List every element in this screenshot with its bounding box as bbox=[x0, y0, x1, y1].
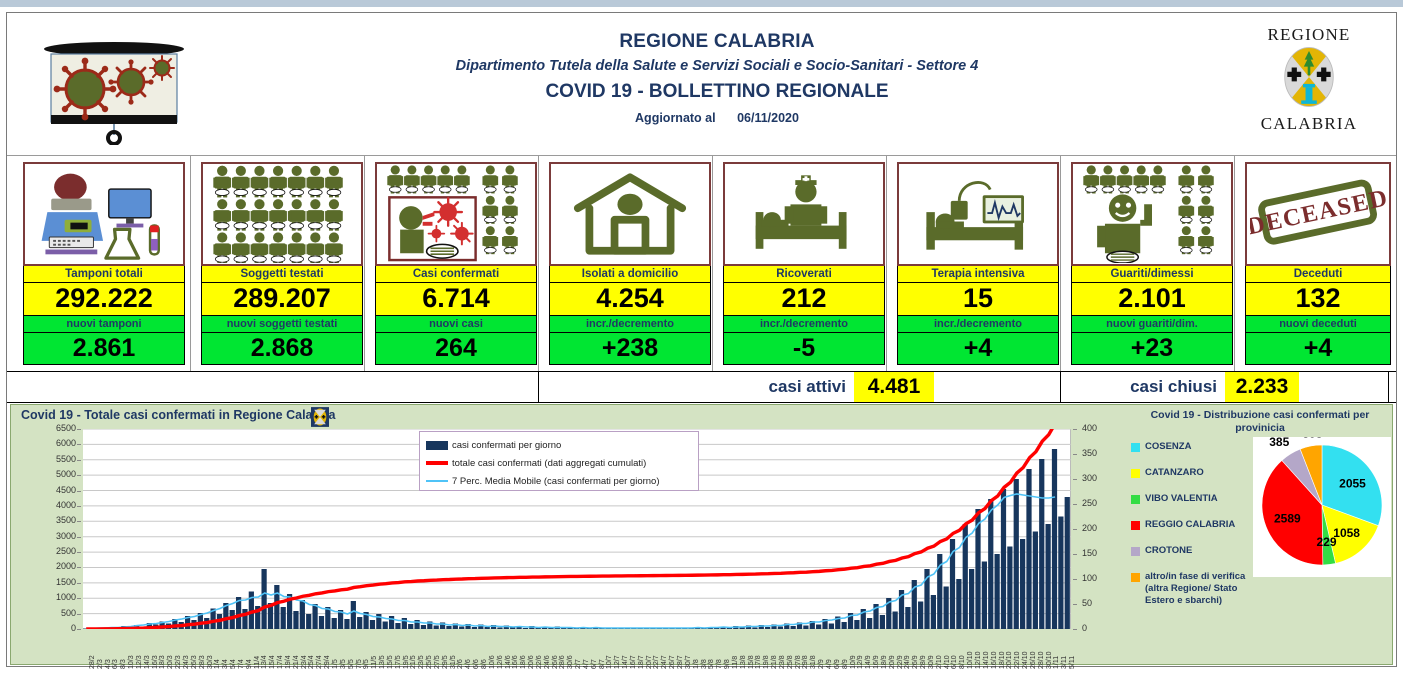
y-axis-left-tick: 3500 bbox=[56, 515, 76, 525]
icu-bed-monitor-icon bbox=[897, 162, 1059, 266]
y-axis-left-tickmark bbox=[77, 583, 81, 584]
pie-legend-swatch-icon bbox=[1131, 443, 1140, 452]
pie-legend-label: altro/in fase di verifica (altra Regione… bbox=[1145, 571, 1250, 607]
pie-chart-panel: Covid 19 - Distribuzione casi confermati… bbox=[1123, 405, 1394, 664]
x-axis-tick-label: 5/5 bbox=[348, 629, 355, 669]
y-axis-left-tick: 4000 bbox=[56, 500, 76, 510]
x-axis-tick-label: 21/5 bbox=[410, 629, 417, 669]
y-axis-right-tickmark bbox=[1073, 579, 1077, 580]
x-axis-tick-label: 18/7 bbox=[638, 629, 645, 669]
bulletin-title: COVID 19 - BOLLETTINO REGIONALE bbox=[207, 81, 1227, 103]
pie-legend-label: CATANZARO bbox=[1145, 467, 1204, 479]
y-axis-right-tickmark bbox=[1073, 504, 1077, 505]
y-axis-right-tick: 0 bbox=[1082, 623, 1087, 633]
kpi-delta-label: nuovi guariti/dim. bbox=[1071, 316, 1233, 333]
kpi-card-guariti-dimessi[interactable]: Guariti/dimessi 2.101 nuovi guariti/dim.… bbox=[1071, 162, 1233, 365]
x-axis-tick-label: 7/4 bbox=[238, 629, 245, 669]
summary-divider bbox=[1388, 372, 1389, 403]
x-axis-tick-label: 27/5 bbox=[434, 629, 441, 669]
kpi-delta-value: -5 bbox=[723, 333, 885, 365]
kpi-delta-value: +4 bbox=[1245, 333, 1391, 365]
x-axis-tick-label: 1/8 bbox=[693, 629, 700, 669]
kpi-strip: Tamponi totali 292.222 nuovi tamponi 2.8… bbox=[7, 155, 1396, 371]
x-axis-tick-label: 17/5 bbox=[395, 629, 402, 669]
kpi-delta-value: 2.861 bbox=[23, 333, 185, 365]
hospital-bed-nurse-icon bbox=[723, 162, 885, 266]
x-axis-tick-label: 30/7 bbox=[685, 629, 692, 669]
y-axis-left-tick: 2000 bbox=[56, 561, 76, 571]
y-axis-left-tickmark bbox=[77, 429, 81, 430]
kpi-card-deceduti[interactable]: DECEASED Deceduti 132 nuovi deceduti +4 bbox=[1245, 162, 1391, 365]
kpi-title: Tamponi totali bbox=[23, 266, 185, 283]
pie-legend-swatch-icon bbox=[1131, 495, 1140, 504]
y-axis-right-tickmark bbox=[1073, 454, 1077, 455]
x-axis-tick-label: 2/6 bbox=[457, 629, 464, 669]
kpi-delta-value: 2.868 bbox=[201, 333, 363, 365]
x-axis-tick-label: 2/10 bbox=[936, 629, 943, 669]
kpi-delta-label: nuovi tamponi bbox=[23, 316, 185, 333]
x-axis-tick-label: 28/10 bbox=[1038, 629, 1045, 669]
pie-slice-label: 229 bbox=[1316, 535, 1336, 549]
x-axis-tick-label: 16/3 bbox=[152, 629, 159, 669]
x-axis-tick-label: 3/5 bbox=[340, 629, 347, 669]
x-axis-tick-label: 5/4 bbox=[230, 629, 237, 669]
y-axis-right-tickmark bbox=[1073, 604, 1077, 605]
kpi-delta-value: +23 bbox=[1071, 333, 1233, 365]
x-axis-tick-label: 20/7 bbox=[646, 629, 653, 669]
x-axis-tick-label: 28/7 bbox=[677, 629, 684, 669]
x-axis-tick-label: 28/6 bbox=[559, 629, 566, 669]
charts-panel: Covid 19 - Totale casi confermati in Reg… bbox=[10, 404, 1393, 665]
x-axis-tick-label: 24/3 bbox=[183, 629, 190, 669]
y-axis-right-tick: 400 bbox=[1082, 423, 1097, 433]
x-axis-tick-label: 23/5 bbox=[418, 629, 425, 669]
x-axis-tick-label: 4/3 bbox=[105, 629, 112, 669]
y-axis-right-tick: 350 bbox=[1082, 448, 1097, 458]
x-axis-tick-label: 14/10 bbox=[983, 629, 990, 669]
main-chart-y-axis-left: 0500100015002000250030003500400045005000… bbox=[11, 429, 81, 637]
kpi-value: 15 bbox=[897, 283, 1059, 316]
legend-item-moving-average: 7 Perc. Media Mobile (casi confermati pe… bbox=[426, 472, 692, 490]
x-axis-tick-label: 29/5 bbox=[442, 629, 449, 669]
pie-legend-swatch-icon bbox=[1131, 573, 1140, 582]
x-axis-tick-label: 10/6 bbox=[489, 629, 496, 669]
house-icon bbox=[549, 162, 711, 266]
x-axis-tick-label: 22/10 bbox=[1014, 629, 1021, 669]
x-axis-tick-label: 9/5 bbox=[363, 629, 370, 669]
pie-legend-item[interactable]: REGGIO CALABRIA bbox=[1131, 519, 1251, 531]
kpi-divider bbox=[364, 156, 365, 372]
y-axis-left-tickmark bbox=[77, 614, 81, 615]
y-axis-left-tickmark bbox=[77, 629, 81, 630]
y-axis-left-tickmark bbox=[77, 521, 81, 522]
calabria-mini-logo-icon bbox=[311, 407, 329, 427]
kpi-title: Isolati a domicilio bbox=[549, 266, 711, 283]
x-axis-tick-label: 8/7 bbox=[599, 629, 606, 669]
kpi-title: Soggetti testati bbox=[201, 266, 363, 283]
x-axis-tick-label: 10/10 bbox=[967, 629, 974, 669]
x-axis-tick-label: 29/8 bbox=[802, 629, 809, 669]
deceased-stamp-icon: DECEASED bbox=[1245, 162, 1391, 266]
y-axis-right-tickmark bbox=[1073, 479, 1077, 480]
kpi-delta-value: 264 bbox=[375, 333, 537, 365]
person-coughing-virus-icon bbox=[375, 162, 537, 266]
x-axis-tick-label: 3/11 bbox=[1061, 629, 1068, 669]
x-axis-tick-label: 6/9 bbox=[834, 629, 841, 669]
pie-chart-legend: COSENZACATANZAROVIBO VALENTIAREGGIO CALA… bbox=[1131, 441, 1251, 621]
x-axis-tick-label: 6/6 bbox=[473, 629, 480, 669]
x-axis-tick-label: 17/4 bbox=[277, 629, 284, 669]
bulletin-page: REGIONE CALABRIA Dipartimento Tutela del… bbox=[0, 0, 1403, 673]
x-axis-tick-label: 8/9 bbox=[842, 629, 849, 669]
x-axis-tick-label: 20/6 bbox=[528, 629, 535, 669]
x-axis-tick-label: 26/3 bbox=[191, 629, 198, 669]
pie-legend-swatch-icon bbox=[1131, 547, 1140, 556]
x-axis-tick-label: 26/6 bbox=[552, 629, 559, 669]
y-axis-right-tick: 50 bbox=[1082, 598, 1092, 608]
casi-chiusi-value: 2.233 bbox=[1225, 372, 1299, 402]
x-axis-tick-label: 22/7 bbox=[653, 629, 660, 669]
main-chart-x-axis: 28/22/34/36/38/310/312/314/316/318/320/3… bbox=[83, 631, 1071, 673]
y-axis-right-tick: 100 bbox=[1082, 573, 1097, 583]
x-axis-tick-label: 24/9 bbox=[904, 629, 911, 669]
casi-attivi-label: casi attivi bbox=[627, 372, 852, 402]
x-axis-tick-label: 4/7 bbox=[583, 629, 590, 669]
x-axis-tick-label: 1/5 bbox=[332, 629, 339, 669]
pie-chart-canvas: 205510582292589385398 bbox=[1253, 437, 1391, 577]
y-axis-left-tickmark bbox=[77, 460, 81, 461]
kpi-card-isolati-domicilio[interactable]: Isolati a domicilio 4.254 incr./decremen… bbox=[549, 162, 711, 365]
pie-slice-label: 2055 bbox=[1339, 477, 1366, 491]
x-axis-tick-label: 30/9 bbox=[928, 629, 935, 669]
x-axis-tick-label: 7/5 bbox=[356, 629, 363, 669]
x-axis-tick-label: 21/8 bbox=[771, 629, 778, 669]
y-axis-left-tickmark bbox=[77, 491, 81, 492]
x-axis-tick-label: 18/10 bbox=[999, 629, 1006, 669]
x-axis-tick-label: 16/7 bbox=[630, 629, 637, 669]
x-axis-tick-label: 18/3 bbox=[159, 629, 166, 669]
x-axis-tick-label: 4/6 bbox=[465, 629, 472, 669]
x-axis-tick-label: 12/10 bbox=[975, 629, 982, 669]
summary-row: casi attivi 4.481 casi chiusi 2.233 bbox=[7, 371, 1396, 403]
x-axis-tick-label: 19/4 bbox=[285, 629, 292, 669]
y-axis-left-tick: 6000 bbox=[56, 438, 76, 448]
x-axis-tick-label: 20/9 bbox=[889, 629, 896, 669]
x-axis-tick-label: 20/10 bbox=[1006, 629, 1013, 669]
y-axis-left-tick: 3000 bbox=[56, 531, 76, 541]
x-axis-tick-label: 8/6 bbox=[481, 629, 488, 669]
kpi-delta-label: incr./decremento bbox=[549, 316, 711, 333]
bulletin-frame: REGIONE CALABRIA Dipartimento Tutela del… bbox=[6, 12, 1397, 667]
kpi-value: 212 bbox=[723, 283, 885, 316]
kpi-delta-value: +238 bbox=[549, 333, 711, 365]
x-axis-tick-label: 30/10 bbox=[1046, 629, 1053, 669]
pie-slice-label: 2589 bbox=[1274, 512, 1301, 526]
x-axis-tick-label: 15/4 bbox=[269, 629, 276, 669]
x-axis-tick-label: 28/2 bbox=[89, 629, 96, 669]
regione-calabria-logo: REGIONE bbox=[1234, 25, 1384, 147]
x-axis-tick-label: 12/6 bbox=[497, 629, 504, 669]
pie-legend-item[interactable]: CATANZARO bbox=[1131, 467, 1251, 479]
x-axis-tick-label: 31/5 bbox=[450, 629, 457, 669]
x-axis-tick-label: 22/6 bbox=[536, 629, 543, 669]
y-axis-left-tick: 1000 bbox=[56, 592, 76, 602]
pie-legend-swatch-icon bbox=[1131, 521, 1140, 530]
main-chart-title: Covid 19 - Totale casi confermati in Reg… bbox=[21, 408, 335, 422]
y-axis-left-tickmark bbox=[77, 598, 81, 599]
x-axis-tick-label: 7/8 bbox=[716, 629, 723, 669]
x-axis-tick-label: 18/6 bbox=[520, 629, 527, 669]
x-axis-tick-label: 19/5 bbox=[403, 629, 410, 669]
pie-legend-item[interactable]: COSENZA bbox=[1131, 441, 1251, 453]
x-axis-tick-label: 26/10 bbox=[1030, 629, 1037, 669]
y-axis-left-tick: 5500 bbox=[56, 454, 76, 464]
x-axis-tick-label: 24/7 bbox=[661, 629, 668, 669]
summary-divider bbox=[1060, 372, 1061, 403]
y-axis-left-tickmark bbox=[77, 567, 81, 568]
kpi-divider bbox=[886, 156, 887, 372]
kpi-value: 292.222 bbox=[23, 283, 185, 316]
people-masked-group-icon bbox=[201, 162, 363, 266]
y-axis-left-tick: 0 bbox=[71, 623, 76, 633]
x-axis-tick-label: 22/9 bbox=[897, 629, 904, 669]
x-axis-tick-label: 20/3 bbox=[167, 629, 174, 669]
summary-divider bbox=[538, 372, 539, 403]
y-axis-left-tick: 6500 bbox=[56, 423, 76, 433]
x-axis-tick-label: 24/10 bbox=[1022, 629, 1029, 669]
y-axis-left-tick: 5000 bbox=[56, 469, 76, 479]
x-axis-tick-label: 27/8 bbox=[795, 629, 802, 669]
pie-legend-label: REGGIO CALABRIA bbox=[1145, 519, 1235, 531]
x-axis-tick-label: 23/8 bbox=[779, 629, 786, 669]
x-axis-tick-label: 13/4 bbox=[261, 629, 268, 669]
pie-legend-item[interactable]: CROTONE bbox=[1131, 545, 1251, 557]
x-axis-tick-label: 9/4 bbox=[246, 629, 253, 669]
y-axis-left-tickmark bbox=[77, 537, 81, 538]
y-axis-right-tick: 250 bbox=[1082, 498, 1097, 508]
x-axis-tick-label: 14/9 bbox=[865, 629, 872, 669]
title-block: REGIONE CALABRIA Dipartimento Tutela del… bbox=[207, 21, 1227, 125]
legend-swatch-line-cyan-icon bbox=[426, 480, 448, 482]
kpi-value: 6.714 bbox=[375, 283, 537, 316]
y-axis-right-tickmark bbox=[1073, 529, 1077, 530]
x-axis-tick-label: 12/3 bbox=[136, 629, 143, 669]
x-axis-tick-label: 25/4 bbox=[308, 629, 315, 669]
main-chart-y-axis-right: 050100150200250300350400 bbox=[1073, 429, 1121, 637]
x-axis-tick-label: 13/8 bbox=[740, 629, 747, 669]
kpi-card-terapia-intensiva[interactable]: Terapia intensiva 15 incr./decremento +4 bbox=[897, 162, 1059, 365]
y-axis-left-tick: 2500 bbox=[56, 546, 76, 556]
kpi-title: Guariti/dimessi bbox=[1071, 266, 1233, 283]
pie-chart-title: Covid 19 - Distribuzione casi confermati… bbox=[1131, 409, 1389, 435]
x-axis-tick-label: 16/10 bbox=[991, 629, 998, 669]
pie-legend-item[interactable]: altro/in fase di verifica (altra Regione… bbox=[1131, 571, 1251, 607]
y-axis-right-tick: 200 bbox=[1082, 523, 1097, 533]
kpi-value: 4.254 bbox=[549, 283, 711, 316]
x-axis-tick-label: 22/3 bbox=[175, 629, 182, 669]
x-axis-tick-label: 2/7 bbox=[575, 629, 582, 669]
pie-slice-label: 398 bbox=[1302, 437, 1322, 441]
x-axis-tick-label: 11/8 bbox=[732, 629, 739, 669]
projector-virus-icon bbox=[29, 27, 199, 145]
window-top-gap bbox=[0, 7, 1403, 10]
y-axis-right-tick: 150 bbox=[1082, 548, 1097, 558]
x-axis-tick-label: 5/8 bbox=[708, 629, 715, 669]
window-top-strip bbox=[0, 0, 1403, 7]
x-axis-tick-label: 10/3 bbox=[128, 629, 135, 669]
y-axis-left-tick: 4500 bbox=[56, 485, 76, 495]
x-axis-tick-label: 10/7 bbox=[606, 629, 613, 669]
y-axis-left-tickmark bbox=[77, 475, 81, 476]
x-axis-tick-label: 8/3 bbox=[120, 629, 127, 669]
x-axis-tick-label: 10/9 bbox=[850, 629, 857, 669]
x-axis-tick-label: 16/9 bbox=[873, 629, 880, 669]
pie-legend-item[interactable]: VIBO VALENTIA bbox=[1131, 493, 1251, 505]
x-axis-tick-label: 4/9 bbox=[826, 629, 833, 669]
x-axis-tick-label: 23/4 bbox=[301, 629, 308, 669]
kpi-value: 289.207 bbox=[201, 283, 363, 316]
legend-swatch-bar-icon bbox=[426, 441, 448, 450]
kpi-divider bbox=[190, 156, 191, 372]
y-axis-left-tickmark bbox=[77, 444, 81, 445]
recovered-person-waving-icon bbox=[1071, 162, 1233, 266]
main-chart-legend: casi confermati per giorno totale casi c… bbox=[419, 431, 699, 491]
pie-legend-label: CROTONE bbox=[1145, 545, 1192, 557]
kpi-divider bbox=[1060, 156, 1061, 372]
x-axis-tick-label: 15/8 bbox=[748, 629, 755, 669]
logo-top-word: REGIONE bbox=[1234, 25, 1384, 45]
kpi-card-soggetti-testati[interactable]: Soggetti testati 289.207 nuovi soggetti … bbox=[201, 162, 363, 365]
kpi-title: Ricoverati bbox=[723, 266, 885, 283]
kpi-title: Terapia intensiva bbox=[897, 266, 1059, 283]
updated-row: Aggiornato al 06/11/2020 bbox=[207, 111, 1227, 125]
legend-label: totale casi confermati (dati aggregati c… bbox=[452, 458, 646, 469]
lab-technician-computer-icon bbox=[23, 162, 185, 266]
x-axis-tick-label: 26/7 bbox=[669, 629, 676, 669]
pie-slice-label: 385 bbox=[1269, 437, 1289, 449]
legend-label: casi confermati per giorno bbox=[452, 440, 561, 451]
kpi-value: 132 bbox=[1245, 283, 1391, 316]
x-axis-tick-label: 3/4 bbox=[222, 629, 229, 669]
x-axis-tick-label: 14/7 bbox=[622, 629, 629, 669]
updated-date: 06/11/2020 bbox=[737, 111, 799, 125]
department-subtitle: Dipartimento Tutela della Salute e Servi… bbox=[207, 58, 1227, 74]
kpi-card-ricoverati[interactable]: Ricoverati 212 incr./decremento -5 bbox=[723, 162, 885, 365]
x-axis-tick-label: 27/4 bbox=[316, 629, 323, 669]
calabria-coat-of-arms-icon bbox=[1270, 45, 1348, 109]
kpi-delta-value: +4 bbox=[897, 333, 1059, 365]
x-axis-tick-label: 30/6 bbox=[567, 629, 574, 669]
logo-bottom-word: CALABRIA bbox=[1234, 114, 1384, 134]
x-axis-tick-label: 6/3 bbox=[112, 629, 119, 669]
kpi-value: 2.101 bbox=[1071, 283, 1233, 316]
x-axis-tick-label: 4/10 bbox=[944, 629, 951, 669]
y-axis-right-tickmark bbox=[1073, 429, 1077, 430]
x-axis-tick-label: 6/7 bbox=[591, 629, 598, 669]
x-axis-tick-label: 18/9 bbox=[881, 629, 888, 669]
pie-legend-swatch-icon bbox=[1131, 469, 1140, 478]
kpi-divider bbox=[1234, 156, 1235, 372]
x-axis-tick-label: 25/5 bbox=[426, 629, 433, 669]
x-axis-tick-label: 28/9 bbox=[920, 629, 927, 669]
kpi-delta-label: nuovi deceduti bbox=[1245, 316, 1391, 333]
x-axis-tick-label: 6/10 bbox=[951, 629, 958, 669]
x-axis-tick-label: 26/9 bbox=[912, 629, 919, 669]
x-axis-tick-label: 11/5 bbox=[371, 629, 378, 669]
casi-chiusi-label: casi chiusi bbox=[1062, 372, 1223, 402]
kpi-card-casi-confermati[interactable]: Casi confermati 6.714 nuovi casi 264 bbox=[375, 162, 537, 365]
kpi-card-tamponi-totali[interactable]: Tamponi totali 292.222 nuovi tamponi 2.8… bbox=[23, 162, 185, 365]
pie-slice-label: 1058 bbox=[1333, 526, 1360, 540]
x-axis-tick-label: 30/3 bbox=[207, 629, 214, 669]
y-axis-right-tickmark bbox=[1073, 554, 1077, 555]
x-axis-tick-label: 29/4 bbox=[324, 629, 331, 669]
legend-item-daily: casi confermati per giorno bbox=[426, 436, 692, 454]
legend-item-cumulative: totale casi confermati (dati aggregati c… bbox=[426, 454, 692, 472]
x-axis-tick-label: 28/3 bbox=[199, 629, 206, 669]
y-axis-left-tickmark bbox=[77, 552, 81, 553]
casi-attivi-value: 4.481 bbox=[854, 372, 934, 402]
legend-label: 7 Perc. Media Mobile (casi confermati pe… bbox=[452, 476, 660, 487]
y-axis-left-tick: 1500 bbox=[56, 577, 76, 587]
legend-swatch-line-red-icon bbox=[426, 461, 448, 465]
kpi-delta-label: incr./decremento bbox=[897, 316, 1059, 333]
kpi-divider bbox=[538, 156, 539, 372]
x-axis-tick-label: 9/8 bbox=[724, 629, 731, 669]
y-axis-right-tick: 300 bbox=[1082, 473, 1097, 483]
x-axis-tick-label: 12/7 bbox=[614, 629, 621, 669]
x-axis-tick-label: 8/10 bbox=[959, 629, 966, 669]
x-axis-tick-label: 3/8 bbox=[701, 629, 708, 669]
kpi-title: Casi confermati bbox=[375, 266, 537, 283]
kpi-divider bbox=[712, 156, 713, 372]
x-axis-tick-label: 31/8 bbox=[810, 629, 817, 669]
x-axis-tick-label: 2/3 bbox=[97, 629, 104, 669]
y-axis-left-tick: 500 bbox=[61, 608, 76, 618]
x-axis-tick-label: 17/8 bbox=[755, 629, 762, 669]
x-axis-tick-label: 25/8 bbox=[787, 629, 794, 669]
pie-legend-label: VIBO VALENTIA bbox=[1145, 493, 1218, 505]
x-axis-tick-label: 1/11 bbox=[1053, 629, 1060, 669]
x-axis-tick-label: 15/5 bbox=[387, 629, 394, 669]
x-axis-tick-label: 19/8 bbox=[763, 629, 770, 669]
pie-legend-label: COSENZA bbox=[1145, 441, 1191, 453]
x-axis-tick-label: 5/11 bbox=[1069, 629, 1076, 669]
kpi-delta-label: nuovi soggetti testati bbox=[201, 316, 363, 333]
kpi-title: Deceduti bbox=[1245, 266, 1391, 283]
x-axis-tick-label: 21/4 bbox=[293, 629, 300, 669]
x-axis-tick-label: 14/6 bbox=[505, 629, 512, 669]
x-axis-tick-label: 13/5 bbox=[379, 629, 386, 669]
kpi-delta-label: incr./decremento bbox=[723, 316, 885, 333]
kpi-delta-label: nuovi casi bbox=[375, 316, 537, 333]
x-axis-tick-label: 2/9 bbox=[818, 629, 825, 669]
org-title: REGIONE CALABRIA bbox=[207, 31, 1227, 53]
x-axis-tick-label: 14/3 bbox=[144, 629, 151, 669]
x-axis-tick-label: 12/9 bbox=[857, 629, 864, 669]
updated-label: Aggiornato al bbox=[635, 111, 716, 125]
x-axis-tick-label: 24/6 bbox=[544, 629, 551, 669]
header: REGIONE CALABRIA Dipartimento Tutela del… bbox=[7, 13, 1396, 155]
x-axis-tick-label: 1/4 bbox=[214, 629, 221, 669]
y-axis-left-tickmark bbox=[77, 506, 81, 507]
x-axis-tick-label: 11/4 bbox=[254, 629, 261, 669]
x-axis-tick-label: 16/6 bbox=[512, 629, 519, 669]
